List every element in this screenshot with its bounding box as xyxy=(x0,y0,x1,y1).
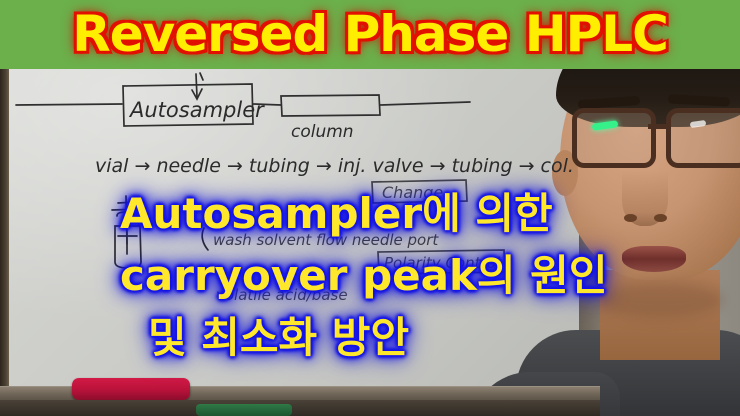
flow-path-text: vial → needle → tubing → inj. valve → tu… xyxy=(95,155,574,177)
title-banner: Reversed Phase HPLC xyxy=(0,0,740,69)
column-label: column xyxy=(291,122,354,142)
caption-overlay: Autosampler에 의한 carryover peak의 원인 및 최소화… xyxy=(120,183,640,369)
caption-line-3: 및 최소화 방안 xyxy=(120,307,640,369)
caption-line-1: Autosampler에 의한 xyxy=(120,183,640,245)
caption-line-2: carryover peak의 원인 xyxy=(120,245,640,307)
video-frame: Autosampler column vial → needle → tubin… xyxy=(0,0,740,416)
page-title: Reversed Phase HPLC xyxy=(0,0,740,69)
autosampler-box-label: Autosampler xyxy=(128,98,265,122)
